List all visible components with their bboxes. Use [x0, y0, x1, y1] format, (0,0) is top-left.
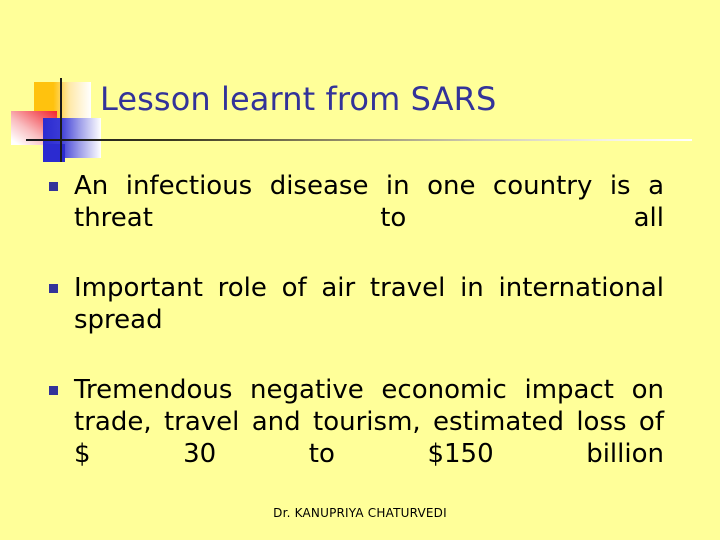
list-item: Tremendous negative economic impact on t…	[44, 374, 664, 502]
list-item-text: Important role of air travel in internat…	[74, 272, 664, 368]
slide-title: Lesson learnt from SARS	[100, 80, 680, 118]
list-item-text: Tremendous negative economic impact on t…	[74, 374, 664, 502]
crosshair-vertical-line-icon	[60, 78, 62, 162]
bullet-square-icon	[49, 284, 58, 293]
slide-canvas: Lesson learnt from SARS An infectious di…	[0, 0, 720, 540]
list-item: Important role of air travel in internat…	[44, 272, 664, 368]
slide-footer: Dr. KANUPRIYA CHATURVEDI	[0, 506, 720, 521]
list-item-text: An infectious disease in one country is …	[74, 170, 664, 266]
bullet-list: An infectious disease in one country is …	[44, 170, 664, 508]
list-item: An infectious disease in one country is …	[44, 170, 664, 266]
title-divider	[60, 139, 692, 141]
bullet-square-icon	[49, 386, 58, 395]
bullet-square-icon	[49, 182, 58, 191]
